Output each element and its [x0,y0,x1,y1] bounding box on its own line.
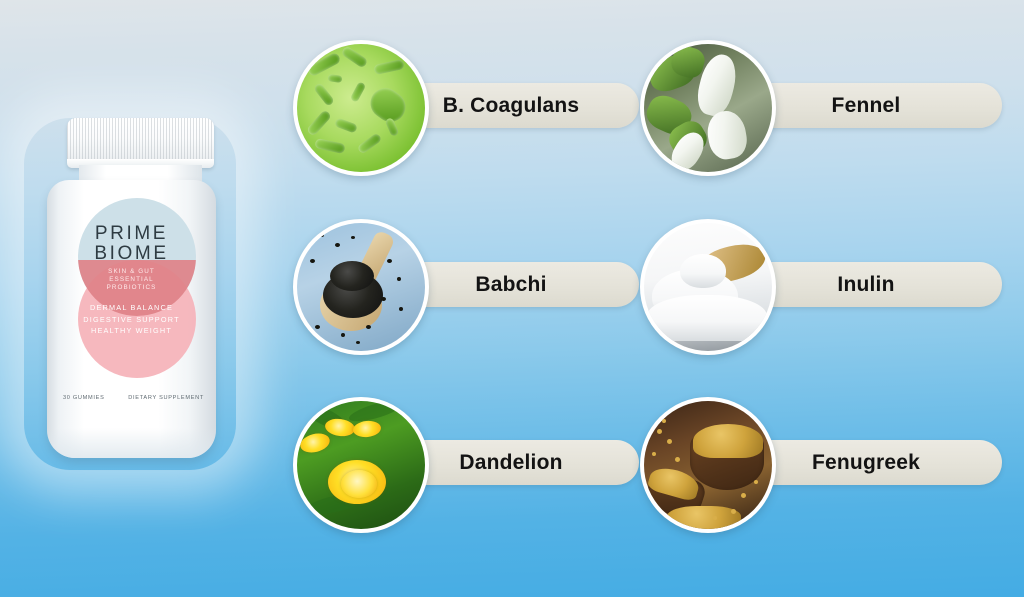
inulin-powder-photo [644,223,772,351]
fenugreek-seeds-photo [644,401,772,529]
benefit-line-3: HEALTHY WEIGHT [47,325,216,337]
bottle-footer: 30 GUMMIES DIETARY SUPPLEMENT [63,395,204,401]
ingredient-name: Dandelion [459,451,562,475]
babchi-seeds-photo [297,223,425,351]
brand-line-2: BIOME [47,244,216,264]
product-bottle-area: PRIME BIOME SKIN & GUT ESSENTIAL PROBIOT… [0,0,278,597]
bottle-cap [67,118,214,168]
supplement-type: DIETARY SUPPLEMENT [128,395,204,401]
ingredient-name: B. Coagulans [443,94,580,118]
bottle-body: PRIME BIOME SKIN & GUT ESSENTIAL PROBIOT… [47,180,216,458]
ingredient-photo-circle [640,40,776,176]
ingredient-item-babchi[interactable]: Babchi [289,219,639,379]
ingredient-photo-circle [293,219,429,355]
supplement-bottle: PRIME BIOME SKIN & GUT ESSENTIAL PROBIOT… [47,118,216,458]
ingredient-item-fennel[interactable]: Fennel [636,40,986,200]
benefit-line-2: DIGESTIVE SUPPORT [47,314,216,326]
ingredient-grid: B. Coagulans Fennel [278,0,1024,597]
fennel-photo [644,44,772,172]
ingredient-name: Inulin [837,273,894,297]
ingredient-photo-circle [293,397,429,533]
brand-name: PRIME BIOME [47,224,216,264]
ingredient-photo-circle [293,40,429,176]
bacteria-photo [297,44,425,172]
benefit-line-1: DERMAL BALANCE [47,302,216,314]
ingredient-photo-circle [640,219,776,355]
ingredient-item-fenugreek[interactable]: Fenugreek [636,397,986,557]
tagline-line-1: SKIN & GUT [47,268,216,276]
tagline-line-2: ESSENTIAL [47,276,216,284]
ingredient-name: Fennel [832,94,901,118]
dandelion-flower-photo [297,401,425,529]
ingredient-item-b-coagulans[interactable]: B. Coagulans [289,40,639,200]
gummy-count: 30 GUMMIES [63,395,105,401]
ingredient-photo-circle [640,397,776,533]
ingredient-item-inulin[interactable]: Inulin [636,219,986,379]
ingredient-name: Babchi [475,273,546,297]
product-tagline: SKIN & GUT ESSENTIAL PROBIOTICS [47,268,216,293]
tagline-line-3: PROBIOTICS [47,284,216,292]
ingredient-item-dandelion[interactable]: Dandelion [289,397,639,557]
ingredient-name: Fenugreek [812,451,920,475]
brand-line-1: PRIME [47,224,216,244]
product-benefits: DERMAL BALANCE DIGESTIVE SUPPORT HEALTHY… [47,302,216,337]
